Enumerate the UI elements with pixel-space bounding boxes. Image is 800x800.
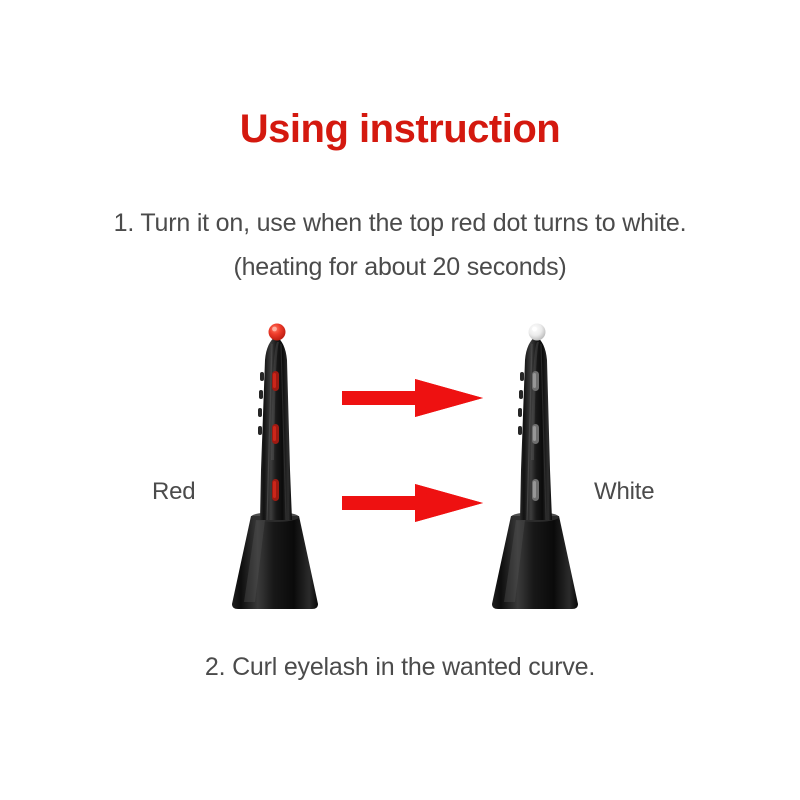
transition-arrow-1 [342,379,483,417]
right-device-seam-right [541,344,546,520]
left-device-led-indicator [269,324,286,341]
left-device-base [232,516,318,609]
left-device-base-collar [251,512,299,522]
transition-arrows [342,377,483,522]
instruction-step-2: 2. Curl eyelash in the wanted curve. [0,650,800,684]
label-left-state-red: Red [152,478,262,506]
instruction-page: Using instruction 1. Turn it on, use whe… [0,0,800,800]
left-device-base-highlight [244,520,265,602]
right-device-shaft-highlight [531,342,539,460]
instruction-step-1-line-1: 1. Turn it on, use when the top red dot … [0,206,800,240]
left-device-seam-left [267,344,272,520]
left-device-seam-right [281,344,286,520]
right-device-led-highlight [532,327,537,332]
right-device-seam-left [527,344,532,520]
transition-arrow-2-head [415,484,483,522]
left-device-comb-head [260,336,292,520]
right-device-led-indicator [529,324,546,341]
left-device-led-highlight [272,327,277,332]
right-device-base-highlight [504,520,525,602]
right-device-comb-head [520,336,552,520]
right-device-comb-teeth [518,372,524,435]
page-title: Using instruction [0,105,800,153]
device-right-white [492,324,578,610]
transition-arrow-2 [342,484,483,522]
instruction-step-1-line-2: (heating for about 20 seconds) [0,250,800,284]
transition-arrow-1-head [415,379,483,417]
left-device-shaft-highlight [271,342,279,460]
right-device-gray-accents [532,371,539,501]
right-device-base-collar [511,512,559,522]
device-left-red [232,324,318,610]
left-device-red-accents [272,371,279,501]
right-device-base [492,516,578,609]
left-device-comb-teeth [258,372,264,435]
label-right-state-white: White [594,478,724,506]
